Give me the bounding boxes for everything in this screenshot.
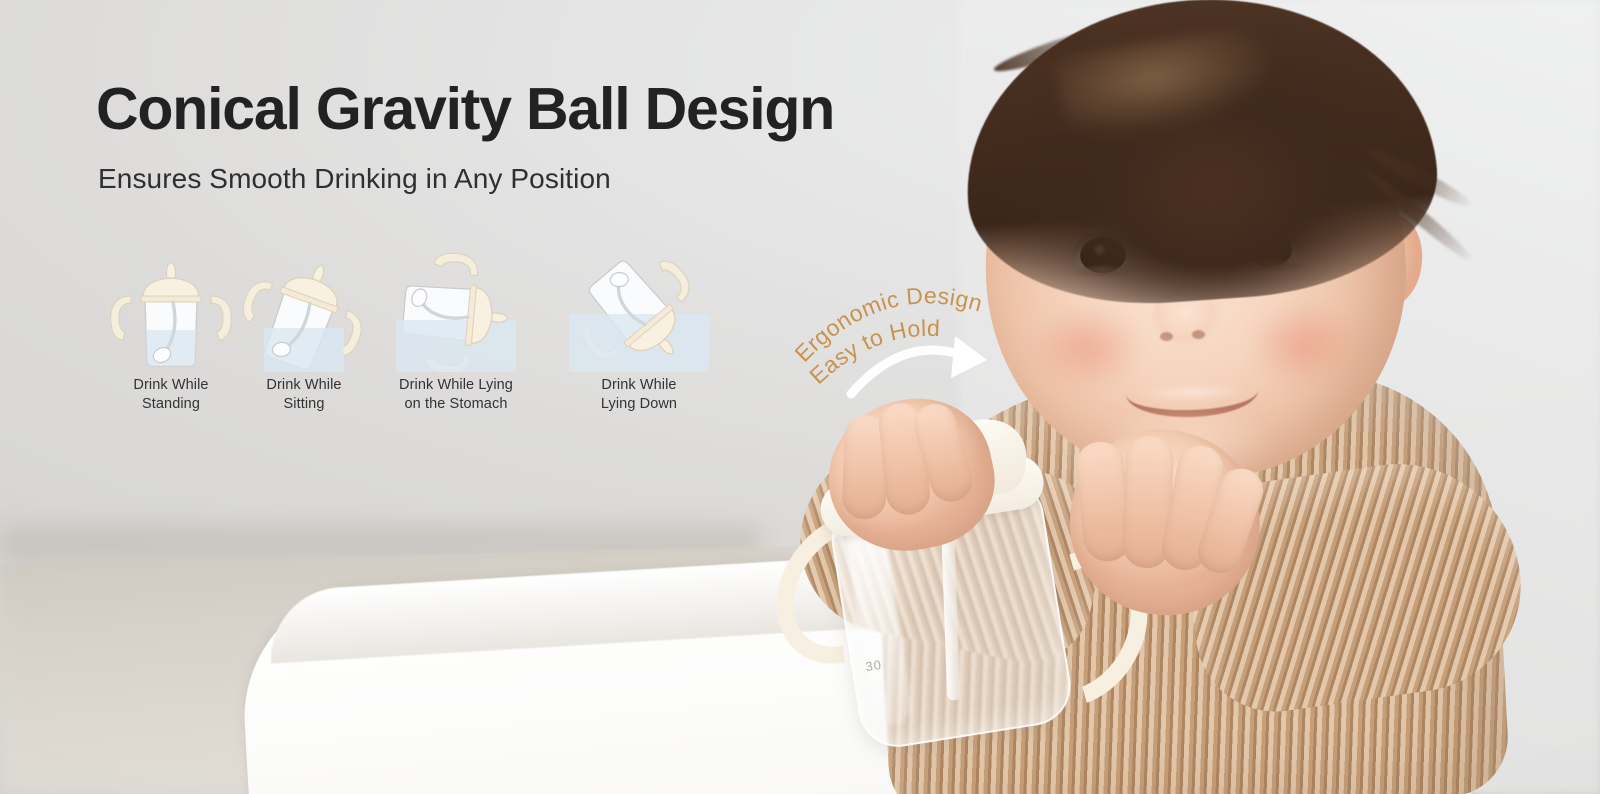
promo-banner: Conical Gravity Ball Design Ensures Smoo… — [0, 0, 1600, 794]
feature-caption: Drink While Lying on the Stomach — [381, 376, 531, 414]
feature-caption: Drink While Sitting — [229, 376, 379, 414]
cup-volume-marking: 30 — [864, 657, 883, 674]
bottle-upright-icon — [96, 252, 246, 372]
bottle-inverted-icon — [564, 252, 714, 372]
page-title: Conical Gravity Ball Design — [96, 78, 834, 141]
feature-item-sitting: Drink While Sitting — [229, 252, 379, 414]
page-subtitle: Ensures Smooth Drinking in Any Position — [98, 163, 611, 195]
bottle-tilted-icon — [229, 252, 379, 372]
bottle-horizontal-icon — [381, 252, 531, 372]
baby-photo: 30 — [760, 0, 1600, 794]
feature-caption: Drink While Standing — [96, 376, 246, 414]
feature-item-stomach: Drink While Lying on the Stomach — [381, 252, 531, 414]
feature-item-lying-down: Drink While Lying Down — [564, 252, 714, 414]
feature-caption: Drink While Lying Down — [564, 376, 714, 414]
nostril-left — [1160, 332, 1173, 341]
feature-list: Drink While Standing — [96, 252, 716, 422]
feature-item-standing: Drink While Standing — [96, 252, 246, 414]
nostril-right — [1192, 330, 1205, 339]
